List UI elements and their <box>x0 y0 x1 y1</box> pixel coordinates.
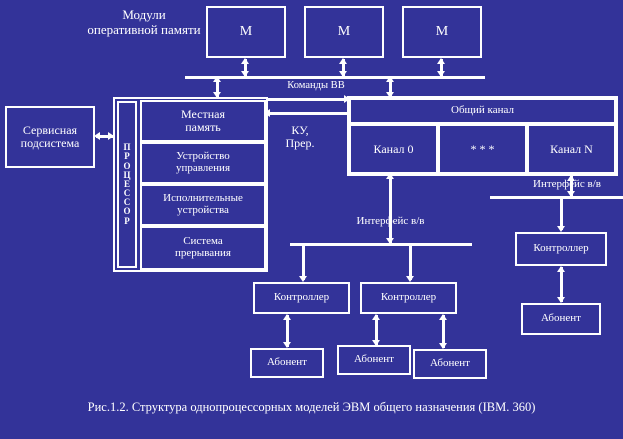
service-subsystem-line2: подсистема <box>21 137 80 150</box>
memory-stub-1-arrow-up <box>241 58 249 64</box>
memory-module-box-1[interactable]: М <box>206 6 286 58</box>
io-interface-center-bus <box>290 243 472 246</box>
channel-cell-0[interactable]: Канал 0 <box>349 124 438 174</box>
channel-cell-ellipsis: * * * <box>438 124 527 174</box>
unit-line2: память <box>181 121 225 134</box>
controller-label: Контроллер <box>533 243 588 255</box>
memory-modules-title-line2: оперативной памяти <box>78 23 210 38</box>
memory-module-label: М <box>436 25 448 40</box>
memory-module-label: М <box>338 25 350 40</box>
subscriber-label: Абонент <box>541 313 581 325</box>
controller-label: Контроллер <box>274 292 329 304</box>
memory-stub-3-arrow-down <box>437 71 445 77</box>
processor-unit-execution-units[interactable]: Исполнительные устройства <box>140 184 266 226</box>
right-controller-subscriber-arrow-up <box>557 266 565 272</box>
subscriber-box-right[interactable]: Абонент <box>521 303 601 335</box>
unit-line2: устройства <box>163 205 243 217</box>
channel-label: Канал 0 <box>373 143 413 156</box>
unit-line2: прерывания <box>175 248 231 260</box>
ku-prer-label: КУ, Прер. <box>272 124 328 151</box>
channel-header-common-channel[interactable]: Общий канал <box>349 98 616 124</box>
center-bus-drop-1 <box>302 244 305 280</box>
processor-unit-local-memory[interactable]: Местная память <box>140 100 266 142</box>
memory-stub-3-arrow-up <box>437 58 445 64</box>
service-processor-arrow-left <box>94 132 100 140</box>
processor-to-channel-line <box>266 98 347 101</box>
controller-box-center-right[interactable]: Контроллер <box>360 282 457 314</box>
subscriber-link-3-arrow-up <box>439 314 447 320</box>
subscriber-box-1[interactable]: Абонент <box>250 348 324 378</box>
channel-to-processor-line <box>266 112 347 115</box>
memory-stub-1-arrow-down <box>241 71 249 77</box>
service-subsystem-box[interactable]: Сервисная подсистема <box>5 106 95 168</box>
controller-box-center-left[interactable]: Контроллер <box>253 282 350 314</box>
io-commands-label: Команды ВВ <box>266 80 366 92</box>
subscriber-link-1-arrow-up <box>283 314 291 320</box>
channel-to-processor-arrow <box>264 109 270 117</box>
io-interface-right-bus <box>490 196 623 199</box>
channel-0-down-line <box>389 175 392 243</box>
channel-cell-n[interactable]: Канал N <box>527 124 616 174</box>
channel-header-label: Общий канал <box>451 105 514 117</box>
bus-to-processor-arrow-up <box>213 76 221 82</box>
processor-letter-8: Р <box>124 217 130 226</box>
memory-module-label: М <box>240 25 252 40</box>
processor-vertical-label: П Р О Ц Е С С О Р <box>117 101 137 268</box>
figure-caption: Рис.1.2. Структура однопроцессорных моде… <box>0 400 623 415</box>
memory-module-box-2[interactable]: М <box>304 6 384 58</box>
channel-label: * * * <box>471 143 495 156</box>
subscriber-box-2[interactable]: Абонент <box>337 345 411 375</box>
controller-label: Контроллер <box>381 292 436 304</box>
io-interface-center-label: Интерфейс в/в <box>333 215 448 227</box>
subscriber-label: Абонент <box>430 358 470 370</box>
memory-modules-title: Модули оперативной памяти <box>78 8 210 37</box>
processor-unit-interrupt-system[interactable]: Система прерывания <box>140 226 266 270</box>
bus-to-channel-arrow-up <box>386 76 394 82</box>
memory-modules-title-line1: Модули <box>78 8 210 23</box>
io-interface-right-label: Интерфейс в/в <box>512 178 622 190</box>
ku-prer-line1: КУ, <box>272 124 328 137</box>
memory-stub-2-arrow-up <box>339 58 347 64</box>
subscriber-box-3[interactable]: Абонент <box>413 349 487 379</box>
subscriber-link-2-arrow-up <box>372 314 380 320</box>
controller-box-right[interactable]: Контроллер <box>515 232 607 266</box>
diagram-canvas: Модули оперативной памяти М М М Команды … <box>0 0 623 439</box>
subscriber-label: Абонент <box>267 357 307 369</box>
memory-module-box-3[interactable]: М <box>402 6 482 58</box>
unit-line2: управления <box>176 163 230 175</box>
center-bus-drop-2 <box>409 244 412 280</box>
subscriber-label: Абонент <box>354 354 394 366</box>
processor-unit-control-device[interactable]: Устройство управления <box>140 142 266 184</box>
memory-stub-2-arrow-down <box>339 71 347 77</box>
ku-prer-line2: Прер. <box>272 137 328 150</box>
channel-0-arrow-up <box>386 173 394 179</box>
channel-label: Канал N <box>550 143 593 156</box>
